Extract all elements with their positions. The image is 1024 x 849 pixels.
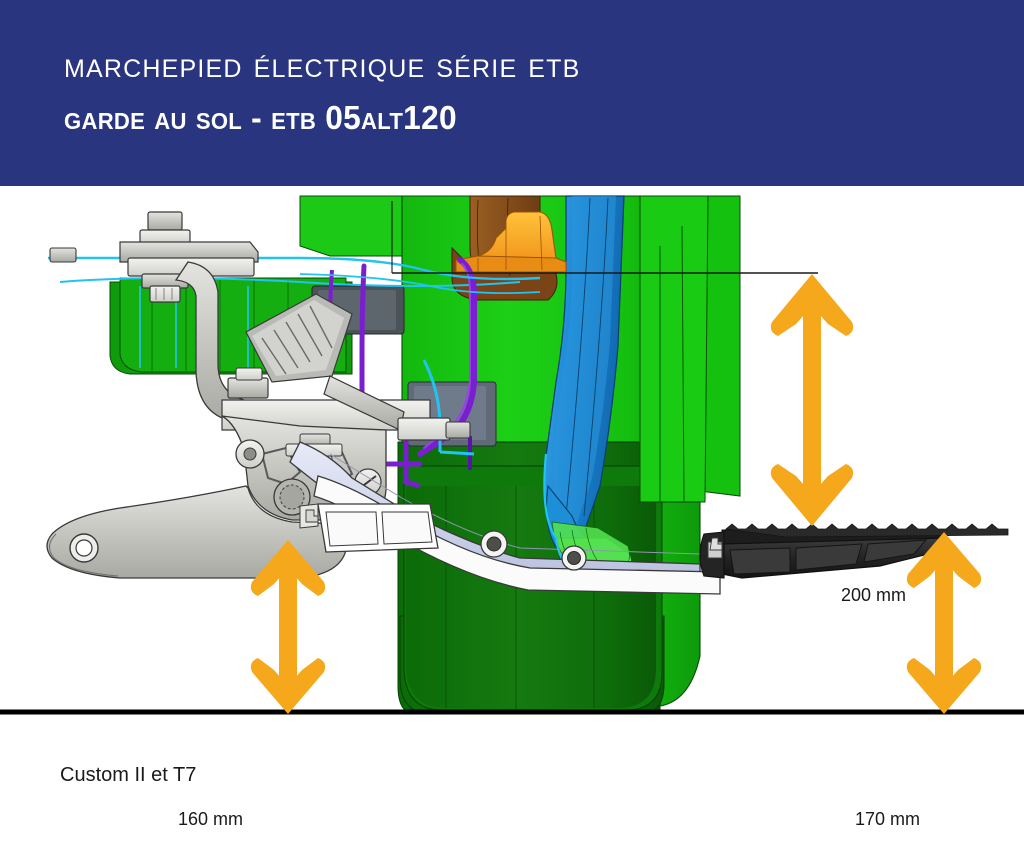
header-banner: Marchepied électrique Série ETB Garde au… [0,0,1024,186]
cad-cross-section-illustration [0,186,1024,849]
dimension-label-170: 170 mm [855,809,920,829]
page-root: Marchepied électrique Série ETB Garde au… [0,0,1024,849]
footer-caption: Custom II et T7 [60,763,196,787]
dimension-label-200: 200 mm [841,585,906,605]
technical-drawing-canvas: 200 mm 160 mm 170 mm [0,186,1024,849]
dimension-arrow-170 [907,532,981,714]
dimension-label-160: 160 mm [178,809,243,829]
page-title: Marchepied électrique Série ETB [64,47,580,85]
dimension-arrow-200 [771,274,853,526]
page-subtitle: Garde au sol - ETB 05ALT120 [64,100,457,136]
